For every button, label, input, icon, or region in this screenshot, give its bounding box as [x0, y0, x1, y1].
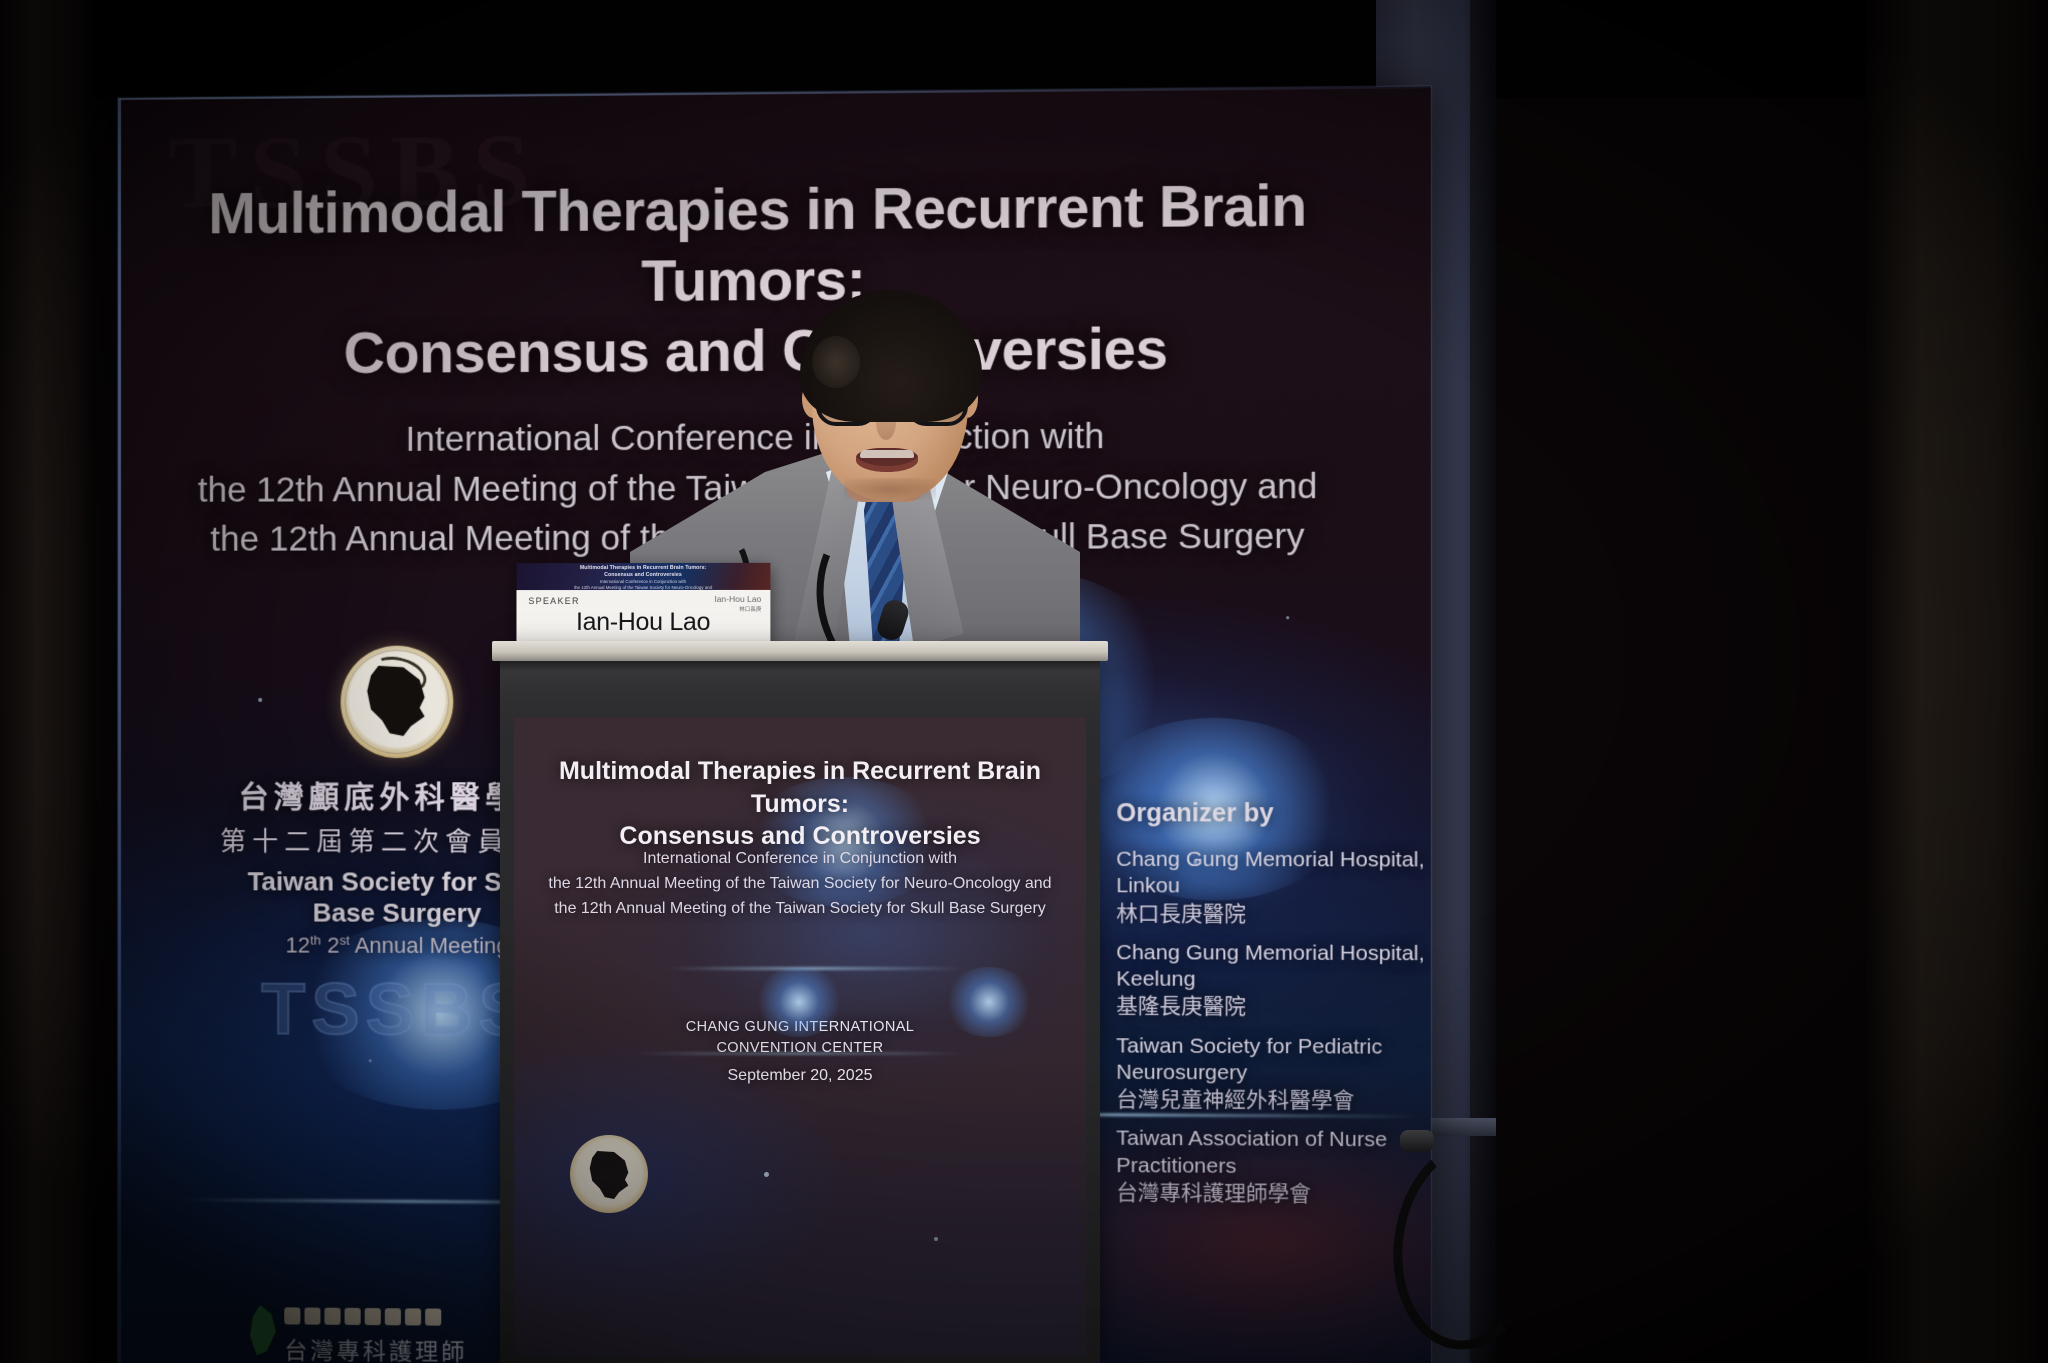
- hair: [800, 290, 982, 422]
- wall-left: [0, 0, 96, 1363]
- meeting-label: Annual Meeting: [355, 933, 509, 959]
- light-flare: [754, 967, 844, 1037]
- ceiling-shadow: [96, 0, 1866, 98]
- podium-subtitle-line-3: the 12th Annual Meeting of the Taiwan So…: [514, 897, 1086, 922]
- logo-pips: [284, 1307, 441, 1325]
- bottom-left-logo: 台灣專科護理師學會: [248, 1289, 479, 1363]
- nameplate-banner: Multimodal Therapies in Recurrent Brain …: [516, 563, 770, 590]
- podium-title: Multimodal Therapies in Recurrent Brain …: [514, 755, 1086, 853]
- taiwan-island-icon: [248, 1305, 278, 1355]
- meeting-ordinal-1: 12: [285, 933, 310, 958]
- podium-date: September 20, 2025: [514, 1067, 1086, 1085]
- organizer-heading: Organizer by: [1116, 799, 1426, 829]
- organizer-entry-cn: 台灣專科護理師學會: [1116, 1179, 1426, 1209]
- meeting-ordinal-sup-2: st: [339, 933, 349, 948]
- meeting-ordinal-2: 2: [327, 933, 339, 958]
- bottom-left-logo-wordmark: 台灣專科護理師學會: [284, 1331, 479, 1363]
- skull-seal-icon: [570, 1135, 648, 1213]
- nameplate-banner-line-4: the 12th Annual Meeting of the Taiwan So…: [516, 585, 770, 590]
- organizer-entry-en: Taiwan Association of Nurse Practitioner…: [1116, 1126, 1426, 1181]
- star: [934, 1237, 938, 1241]
- podium-printed-panel: Multimodal Therapies in Recurrent Brain …: [514, 717, 1086, 1357]
- light-flare: [944, 967, 1034, 1037]
- star: [369, 1059, 372, 1062]
- podium-lip-shadow: [500, 661, 1100, 671]
- organizer-entry-en: Chang Gung Memorial Hospital, Keelung: [1116, 940, 1426, 994]
- podium-subtitle: International Conference in Conjunction …: [514, 847, 1086, 921]
- nameplate-name-english: Ian-Hou Lao: [516, 608, 770, 637]
- skull-glyph: [588, 1151, 630, 1199]
- wall-right: [1866, 0, 2048, 1363]
- organizer-entry-en: Taiwan Society for Pediatric Neurosurger…: [1116, 1033, 1426, 1088]
- organizer-block: Organizer by Chang Gung Memorial Hospita…: [1116, 799, 1426, 1221]
- nameplate-corner-name: Ian-Hou Lao: [714, 594, 761, 604]
- meeting-ordinal-sup-1: th: [310, 933, 321, 948]
- podium-subtitle-line-1: International Conference in Conjunction …: [514, 847, 1086, 872]
- podium-title-line-1: Multimodal Therapies in Recurrent Brain …: [514, 755, 1086, 820]
- podium: Multimodal Therapies in Recurrent Brain …: [500, 655, 1100, 1363]
- microphone-capsule: [1400, 1130, 1434, 1152]
- organizer-entry-cn: 台灣兒童神經外科醫學會: [1116, 1086, 1426, 1115]
- star: [764, 1172, 769, 1177]
- teeth: [860, 450, 914, 458]
- organizer-entry-cn: 基隆長庚醫院: [1116, 993, 1426, 1022]
- organizer-entry-en: Chang Gung Memorial Hospital, Linkou: [1116, 847, 1426, 901]
- nameplate-role-label: SPEAKER: [528, 596, 579, 606]
- organizer-entry-cn: 林口長庚醫院: [1116, 900, 1426, 929]
- screenshot-root: TSSBS Multimodal Therapies in Recurrent …: [0, 0, 2048, 1363]
- podium-subtitle-line-2: the 12th Annual Meeting of the Taiwan So…: [514, 872, 1086, 897]
- podium-venue-line-2: CONVENTION CENTER: [514, 1038, 1086, 1059]
- podium-top-lip: [492, 641, 1108, 661]
- skull-seal-icon: [341, 646, 454, 759]
